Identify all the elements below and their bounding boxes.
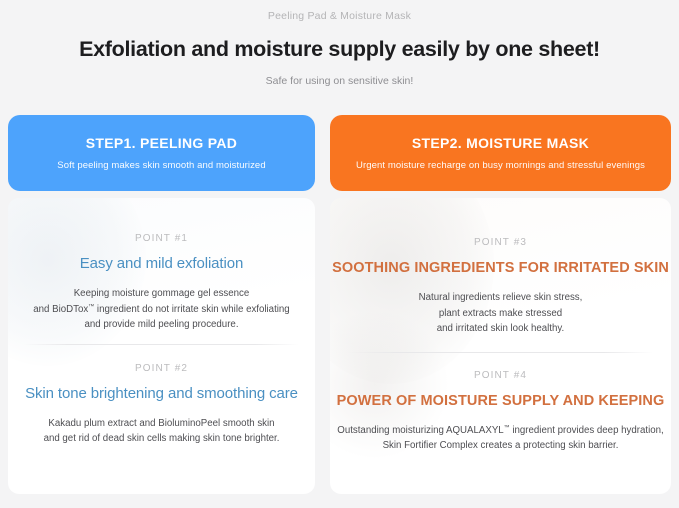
point-2-title: Skin tone brightening and smoothing care <box>8 384 315 404</box>
point-1-title: Easy and mild exfoliation <box>8 254 315 274</box>
point-2-body-line: Kakadu plum extract and BioluminoPeel sm… <box>8 416 315 432</box>
point-3-body: Natural ingredients relieve skin stress,… <box>330 290 671 337</box>
step1-banner: STEP1. PEELING PAD Soft peeling makes sk… <box>8 115 315 191</box>
point-block-3: POINT #3 SOOTHING INGREDIENTS FOR IRRITA… <box>330 198 671 337</box>
point-4-label: POINT #4 <box>330 369 671 382</box>
product-infographic: Peeling Pad & Moisture Mask Exfoliation … <box>0 0 679 508</box>
point-4-body: Outstanding moisturizing AQUALAXYL™ ingr… <box>330 423 671 454</box>
point-1-body-line: and provide mild peeling procedure. <box>8 317 315 333</box>
step2-banner: STEP2. MOISTURE MASK Urgent moisture rec… <box>330 115 671 191</box>
step2-detail-card: POINT #3 SOOTHING INGREDIENTS FOR IRRITA… <box>330 198 671 494</box>
point-4-title: POWER OF MOISTURE SUPPLY AND KEEPING <box>330 391 671 411</box>
point-3-body-line: and irritated skin look healthy. <box>330 321 671 337</box>
point-1-label: POINT #1 <box>8 232 315 245</box>
page-header: Peeling Pad & Moisture Mask Exfoliation … <box>0 0 679 88</box>
step1-banner-title: STEP1. PEELING PAD <box>86 134 237 152</box>
point-3-label: POINT #3 <box>330 236 671 249</box>
point-1-body-line: and BioDTox™ ingredient do not irritate … <box>8 302 315 318</box>
page-title: Exfoliation and moisture supply easily b… <box>0 36 679 62</box>
step-detail-card-row: POINT #1 Easy and mild exfoliation Keepi… <box>0 198 679 494</box>
point-1-body: Keeping moisture gommage gel essence and… <box>8 286 315 333</box>
point-2-body-line: and get rid of dead skin cells making sk… <box>8 431 315 447</box>
step2-banner-subtitle: Urgent moisture recharge on busy morning… <box>356 159 645 172</box>
point-block-4: POINT #4 POWER OF MOISTURE SUPPLY AND KE… <box>330 337 671 454</box>
product-category-label: Peeling Pad & Moisture Mask <box>0 9 679 23</box>
point-block-1: POINT #1 Easy and mild exfoliation Keepi… <box>8 198 315 333</box>
point-2-label: POINT #2 <box>8 362 315 375</box>
step1-banner-subtitle: Soft peeling makes skin smooth and moist… <box>57 159 265 172</box>
point-1-body-line: Keeping moisture gommage gel essence <box>8 286 315 302</box>
point-block-2: POINT #2 Skin tone brightening and smoot… <box>8 333 315 447</box>
step1-detail-card: POINT #1 Easy and mild exfoliation Keepi… <box>8 198 315 494</box>
point-3-title: SOOTHING INGREDIENTS FOR IRRITATED SKIN <box>330 258 671 278</box>
point-4-body-line: Outstanding moisturizing AQUALAXYL™ ingr… <box>330 423 671 439</box>
page-subtitle: Safe for using on sensitive skin! <box>0 74 679 88</box>
step-banner-row: STEP1. PEELING PAD Soft peeling makes sk… <box>0 115 679 191</box>
point-2-body: Kakadu plum extract and BioluminoPeel sm… <box>8 416 315 447</box>
step2-banner-title: STEP2. MOISTURE MASK <box>412 134 589 152</box>
point-4-body-line: Skin Fortifier Complex creates a protect… <box>330 438 671 454</box>
point-3-body-line: plant extracts make stressed <box>330 306 671 322</box>
point-3-body-line: Natural ingredients relieve skin stress, <box>330 290 671 306</box>
